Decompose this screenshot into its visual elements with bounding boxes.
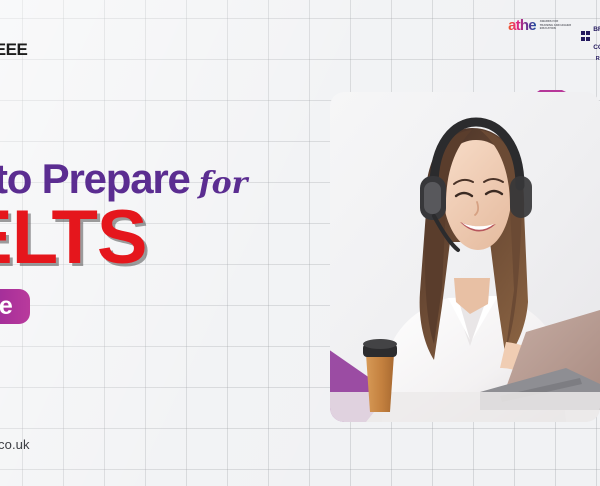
website-url[interactable]: beee.co.uk [0, 437, 30, 452]
british-council-logo: BRITI COUN Regis [581, 18, 600, 62]
headline-script-text: for [199, 169, 248, 199]
british-council-registration-text: Regis [596, 56, 600, 62]
british-council-wordmark: BRITI COUN [593, 18, 600, 54]
athe-logo-wordmark: athe [508, 18, 536, 33]
brand-logo[interactable]: B EEE [0, 38, 27, 60]
ielts-promo-banner: B EEE athe AWARDS FOR TRAINING AND HIGHE… [0, 0, 600, 486]
headline-main-text: w to Prepare [0, 158, 190, 200]
brand-logo-word: EEE [0, 41, 27, 58]
athe-logo: athe AWARDS FOR TRAINING AND HIGHER EDUC… [508, 18, 572, 33]
accreditation-logos: athe AWARDS FOR TRAINING AND HIGHER EDUC… [508, 18, 600, 62]
status-badge-label: ome [0, 294, 13, 319]
british-council-grid-icon [581, 31, 591, 41]
student-photo [330, 92, 600, 422]
athe-logo-subtitle: AWARDS FOR TRAINING AND HIGHER EDUCATION [540, 20, 572, 31]
status-badge: ome [0, 289, 30, 324]
page-title: ELTS [0, 200, 147, 276]
headline: w to Prepare for [0, 158, 247, 200]
british-council-mark-row: BRITI COUN [581, 18, 600, 54]
